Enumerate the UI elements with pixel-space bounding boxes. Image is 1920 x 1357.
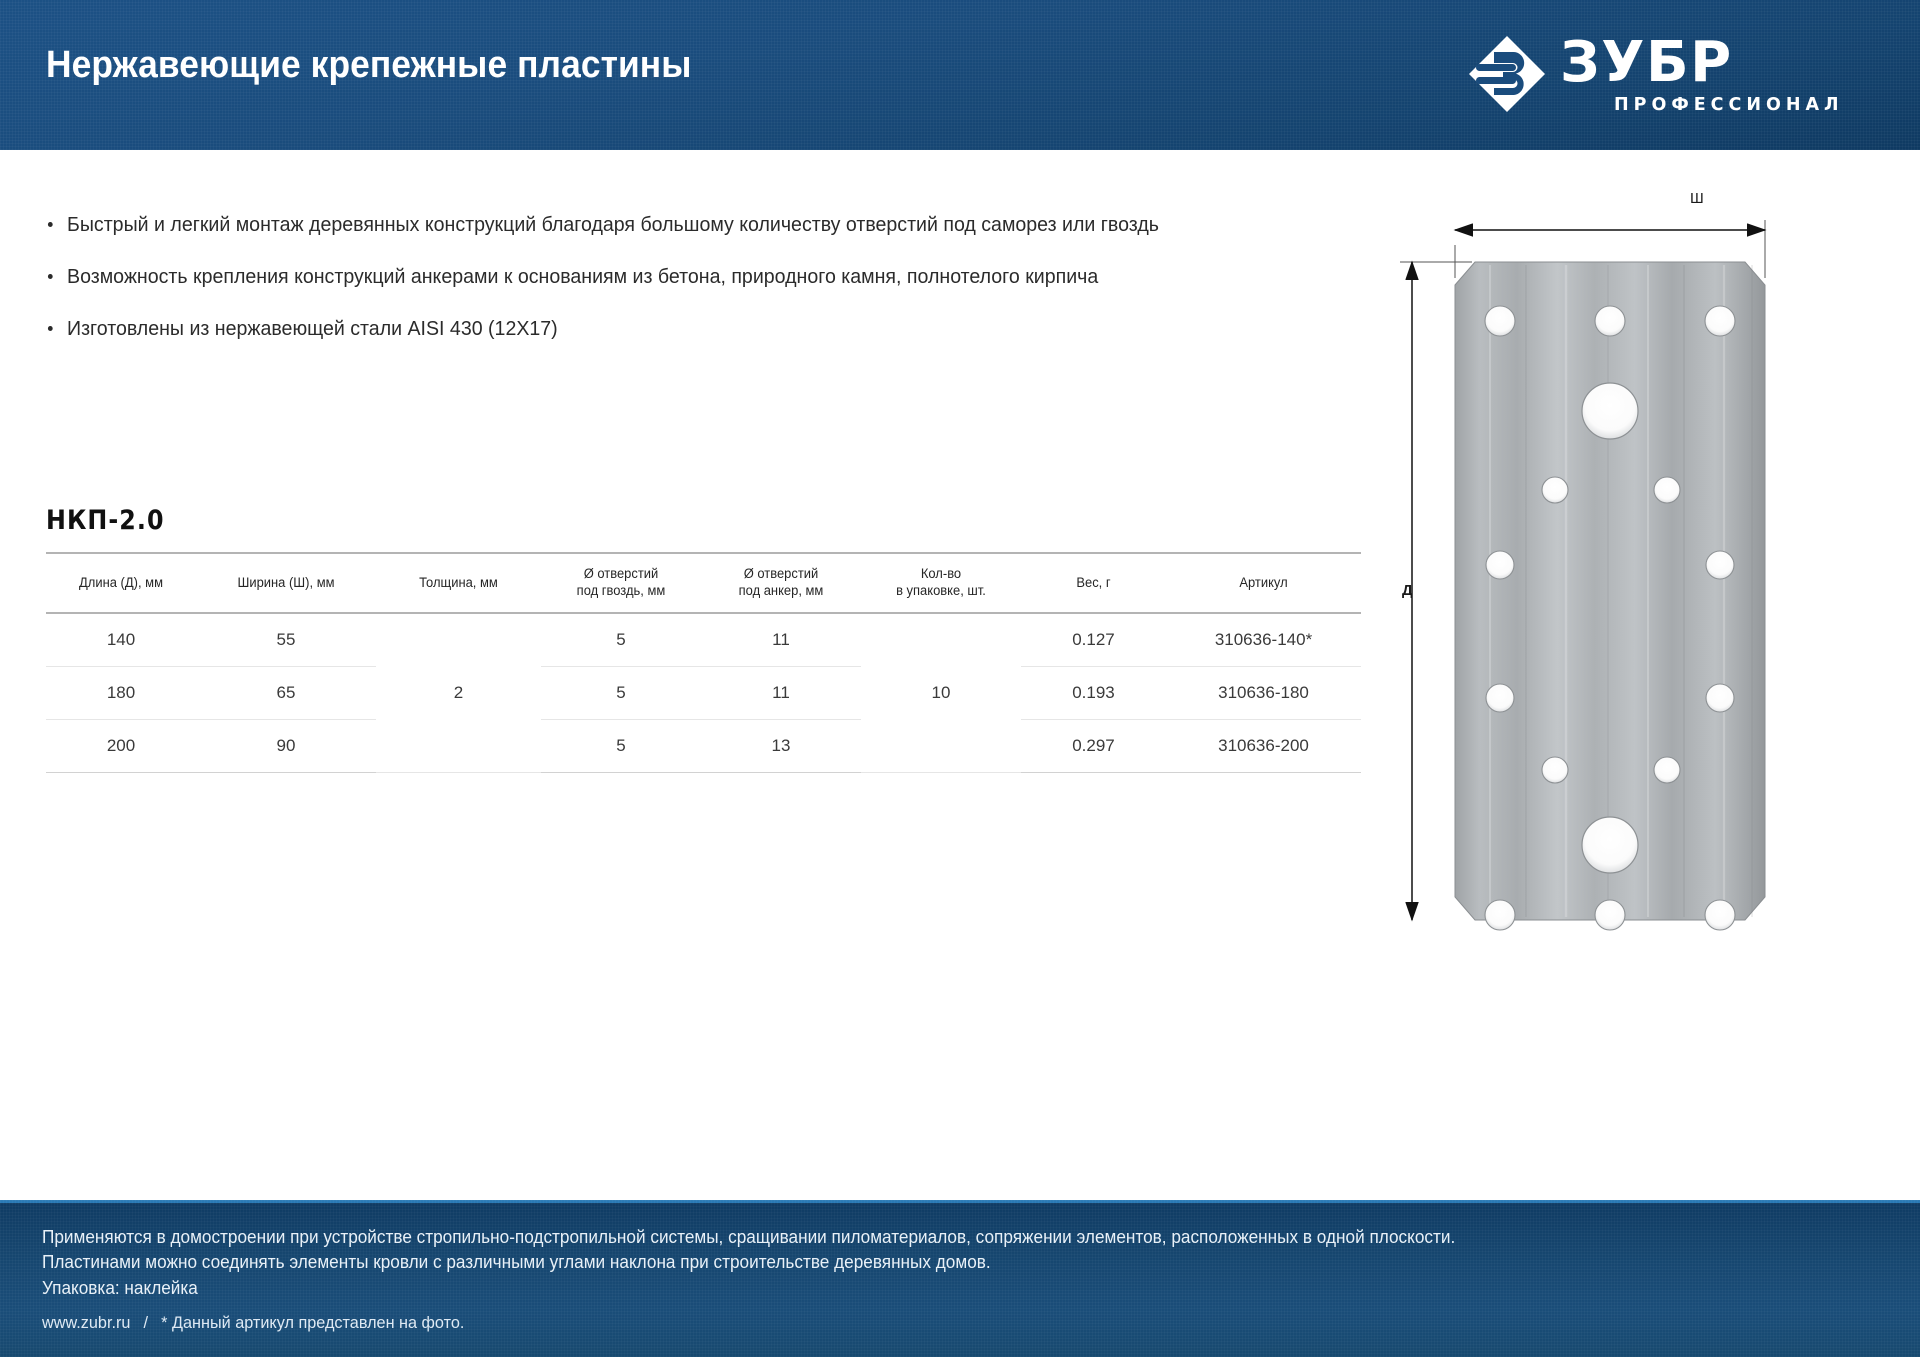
table-row: 140 55 2 5 11 10 0.127 310636-140* — [46, 613, 1361, 667]
col-header-nail-hole: Ø отверстий под гвоздь, мм — [544, 553, 698, 613]
zubr-wordmark: ЗУБР — [1560, 33, 1733, 93]
col-header-pack-qty: Кол-во в упаковке, шт. — [864, 553, 1018, 613]
dimension-length-label: Д — [1402, 582, 1413, 599]
cell-anchor-hole: 11 — [701, 613, 861, 667]
zubr-diamond-icon — [1468, 35, 1546, 113]
cell-length: 140 — [46, 613, 196, 667]
feature-text: Изготовлены из нержавеющей стали AISI 43… — [67, 317, 558, 340]
footer-description-line1: Применяются в домостроении при устройств… — [42, 1225, 1455, 1250]
plate-drawing — [1380, 190, 1880, 970]
footer-packaging: Упаковка: наклейка — [42, 1276, 198, 1301]
col-header-article: Артикул — [1170, 553, 1357, 613]
footer-description-line2: Пластинами можно соединять элементы кров… — [42, 1250, 991, 1275]
cell-weight: 0.127 — [1021, 613, 1166, 667]
cell-anchor-hole: 11 — [701, 667, 861, 720]
col-header-line1: Кол-во — [921, 566, 961, 581]
cell-nail-hole: 5 — [541, 667, 701, 720]
dimension-width-label: Ш — [1690, 190, 1704, 207]
col-header-width: Ширина (Ш), мм — [200, 553, 373, 613]
col-header-line1: Длина (Д), мм — [79, 575, 163, 590]
col-header-line1: Ø отверстий — [744, 566, 819, 581]
col-header-anchor-hole: Ø отверстий под анкер, мм — [704, 553, 858, 613]
page-header: Нержавеющие крепежные пластины ЗУБР ПРОФ… — [0, 0, 1920, 150]
table-row: 200 90 5 13 0.297 310636-200 — [46, 720, 1361, 773]
spec-table-block: НКП-2.0 Длина (Д), мм Ширина (Ш), мм Тол… — [46, 505, 1361, 773]
col-header-weight: Вес, г — [1024, 553, 1163, 613]
spec-table-title: НКП-2.0 — [46, 505, 1203, 536]
cell-article: 310636-200 — [1166, 720, 1361, 773]
zubr-logo: ЗУБР ПРОФЕССИОНАЛ — [1468, 27, 1868, 123]
footer-accent-bar — [0, 1200, 1920, 1203]
cell-thickness-merged: 2 — [376, 613, 541, 773]
cell-anchor-hole: 13 — [701, 720, 861, 773]
footer-meta: www.zubr.ru / * Данный артикул представл… — [42, 1310, 464, 1335]
bullet-dot-icon — [48, 222, 53, 227]
product-image-block: Ш Д — [1380, 190, 1880, 970]
feature-list: Быстрый и легкий монтаж деревянных конст… — [46, 212, 1376, 368]
col-header-line1: Ø отверстий — [584, 566, 659, 581]
bullet-dot-icon — [48, 326, 53, 331]
col-header-line1: Артикул — [1239, 575, 1287, 590]
feature-text: Быстрый и легкий монтаж деревянных конст… — [67, 213, 1159, 236]
cell-weight: 0.193 — [1021, 667, 1166, 720]
col-header-line2: под гвоздь, мм — [577, 583, 666, 598]
footer-separator: / — [135, 1313, 157, 1332]
cell-weight: 0.297 — [1021, 720, 1166, 773]
cell-length: 200 — [46, 720, 196, 773]
col-header-line2: под анкер, мм — [739, 583, 824, 598]
footer-article-note: * Данный артикул представлен на фото. — [161, 1313, 464, 1332]
cell-nail-hole: 5 — [541, 720, 701, 773]
spec-table-header-row: Длина (Д), мм Ширина (Ш), мм Толщина, мм… — [46, 553, 1361, 613]
product-spec-sheet: Нержавеющие крепежные пластины ЗУБР ПРОФ… — [0, 0, 1920, 1357]
feature-item: Быстрый и легкий монтаж деревянных конст… — [46, 212, 1316, 238]
page-footer: Применяются в домостроении при устройств… — [0, 1200, 1920, 1357]
spec-table: Длина (Д), мм Ширина (Ш), мм Толщина, мм… — [46, 552, 1361, 773]
table-row: 180 65 5 11 0.193 310636-180 — [46, 667, 1361, 720]
cell-width: 65 — [196, 667, 376, 720]
cell-length: 180 — [46, 667, 196, 720]
cell-article: 310636-140* — [1166, 613, 1361, 667]
cell-article: 310636-180 — [1166, 667, 1361, 720]
feature-item: Возможность крепления конструкций анкера… — [46, 264, 1316, 290]
col-header-line1: Вес, г — [1076, 575, 1110, 590]
col-header-line1: Ширина (Ш), мм — [237, 575, 334, 590]
bullet-dot-icon — [48, 274, 53, 279]
spec-table-body: 140 55 2 5 11 10 0.127 310636-140* 180 6… — [46, 613, 1361, 773]
col-header-line1: Толщина, мм — [419, 575, 498, 590]
cell-pack-qty-merged: 10 — [861, 613, 1021, 773]
footer-website-link[interactable]: www.zubr.ru — [42, 1313, 130, 1332]
col-header-thickness: Толщина, мм — [379, 553, 537, 613]
cell-width: 90 — [196, 720, 376, 773]
col-header-line2: в упаковке, шт. — [896, 583, 986, 598]
feature-item: Изготовлены из нержавеющей стали AISI 43… — [46, 316, 1316, 342]
zubr-tagline: ПРОФЕССИОНАЛ — [1614, 95, 1844, 115]
feature-text: Возможность крепления конструкций анкера… — [67, 265, 1098, 288]
cell-width: 55 — [196, 613, 376, 667]
header-accent-bar — [0, 145, 1920, 150]
spec-table-head: Длина (Д), мм Ширина (Ш), мм Толщина, мм… — [46, 553, 1361, 613]
col-header-length: Длина (Д), мм — [49, 553, 193, 613]
cell-nail-hole: 5 — [541, 613, 701, 667]
page-title: Нержавеющие крепежные пластины — [46, 44, 692, 87]
